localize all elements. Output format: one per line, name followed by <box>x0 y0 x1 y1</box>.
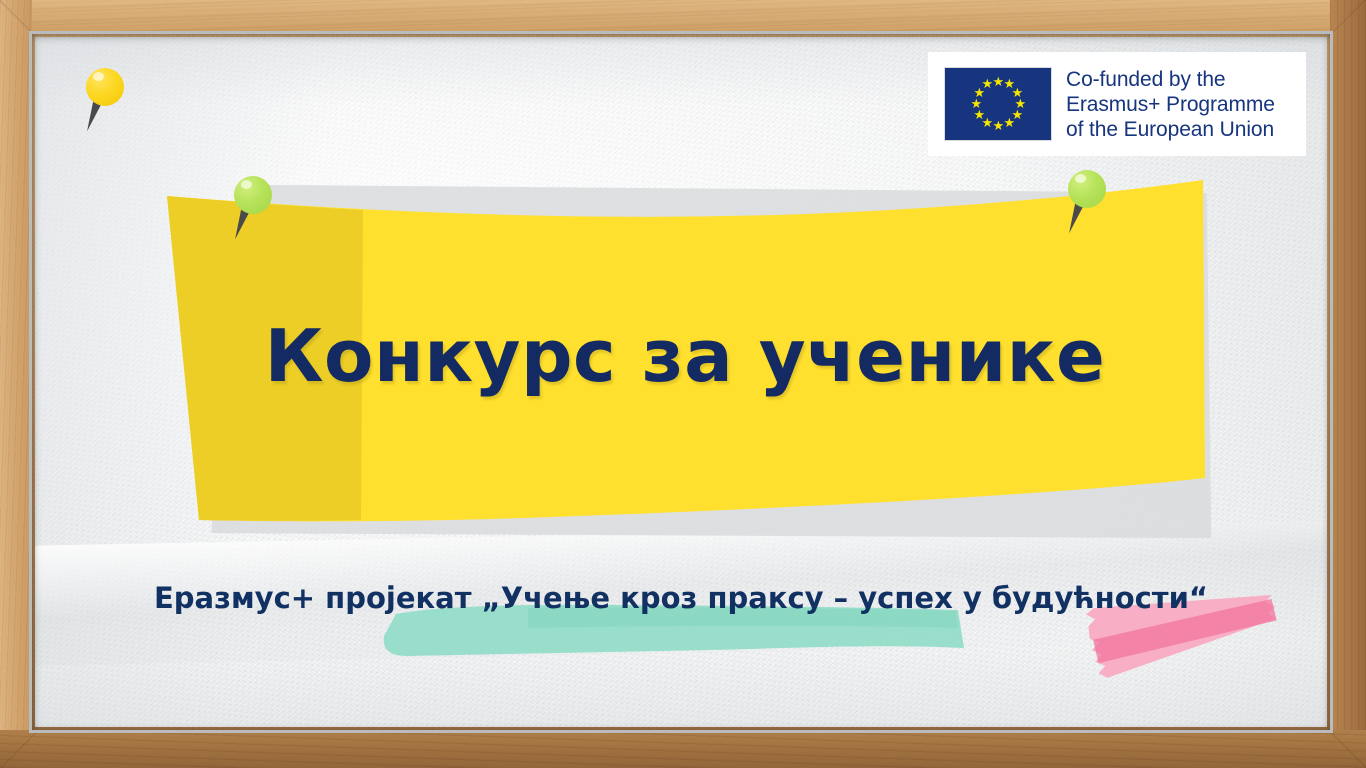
frame-rail-bottom <box>0 730 1366 768</box>
pushpin-head <box>234 176 272 214</box>
eu-star-icon: ★ <box>993 121 1004 132</box>
logo-line-1: Co-funded by the <box>1066 67 1275 92</box>
pushpin-head <box>1068 170 1106 208</box>
pushpin-head <box>86 68 124 106</box>
erasmus-plus-logo: ★★★★★★★★★★★★ Co-funded by the Erasmus+ P… <box>928 52 1306 156</box>
frame-rail-top <box>0 0 1366 34</box>
eu-star-icon: ★ <box>1004 118 1015 129</box>
eu-star-icon: ★ <box>982 79 993 90</box>
european-union-flag-icon: ★★★★★★★★★★★★ <box>944 67 1052 141</box>
frame-rail-left <box>0 0 32 768</box>
frame-rail-right <box>1330 0 1366 768</box>
eu-star-icon: ★ <box>993 77 1004 88</box>
page-title: Конкурс за ученике <box>165 310 1205 402</box>
logo-line-3: of the European Union <box>1066 117 1275 142</box>
presentation-slide: ★★★★★★★★★★★★ Co-funded by the Erasmus+ P… <box>0 0 1366 768</box>
subtitle-text: Еразмус+ пројекат „Учење кроз праксу – у… <box>35 578 1327 618</box>
erasmus-logo-text: Co-funded by the Erasmus+ Programme of t… <box>1066 67 1275 142</box>
logo-line-2: Erasmus+ Programme <box>1066 92 1275 117</box>
